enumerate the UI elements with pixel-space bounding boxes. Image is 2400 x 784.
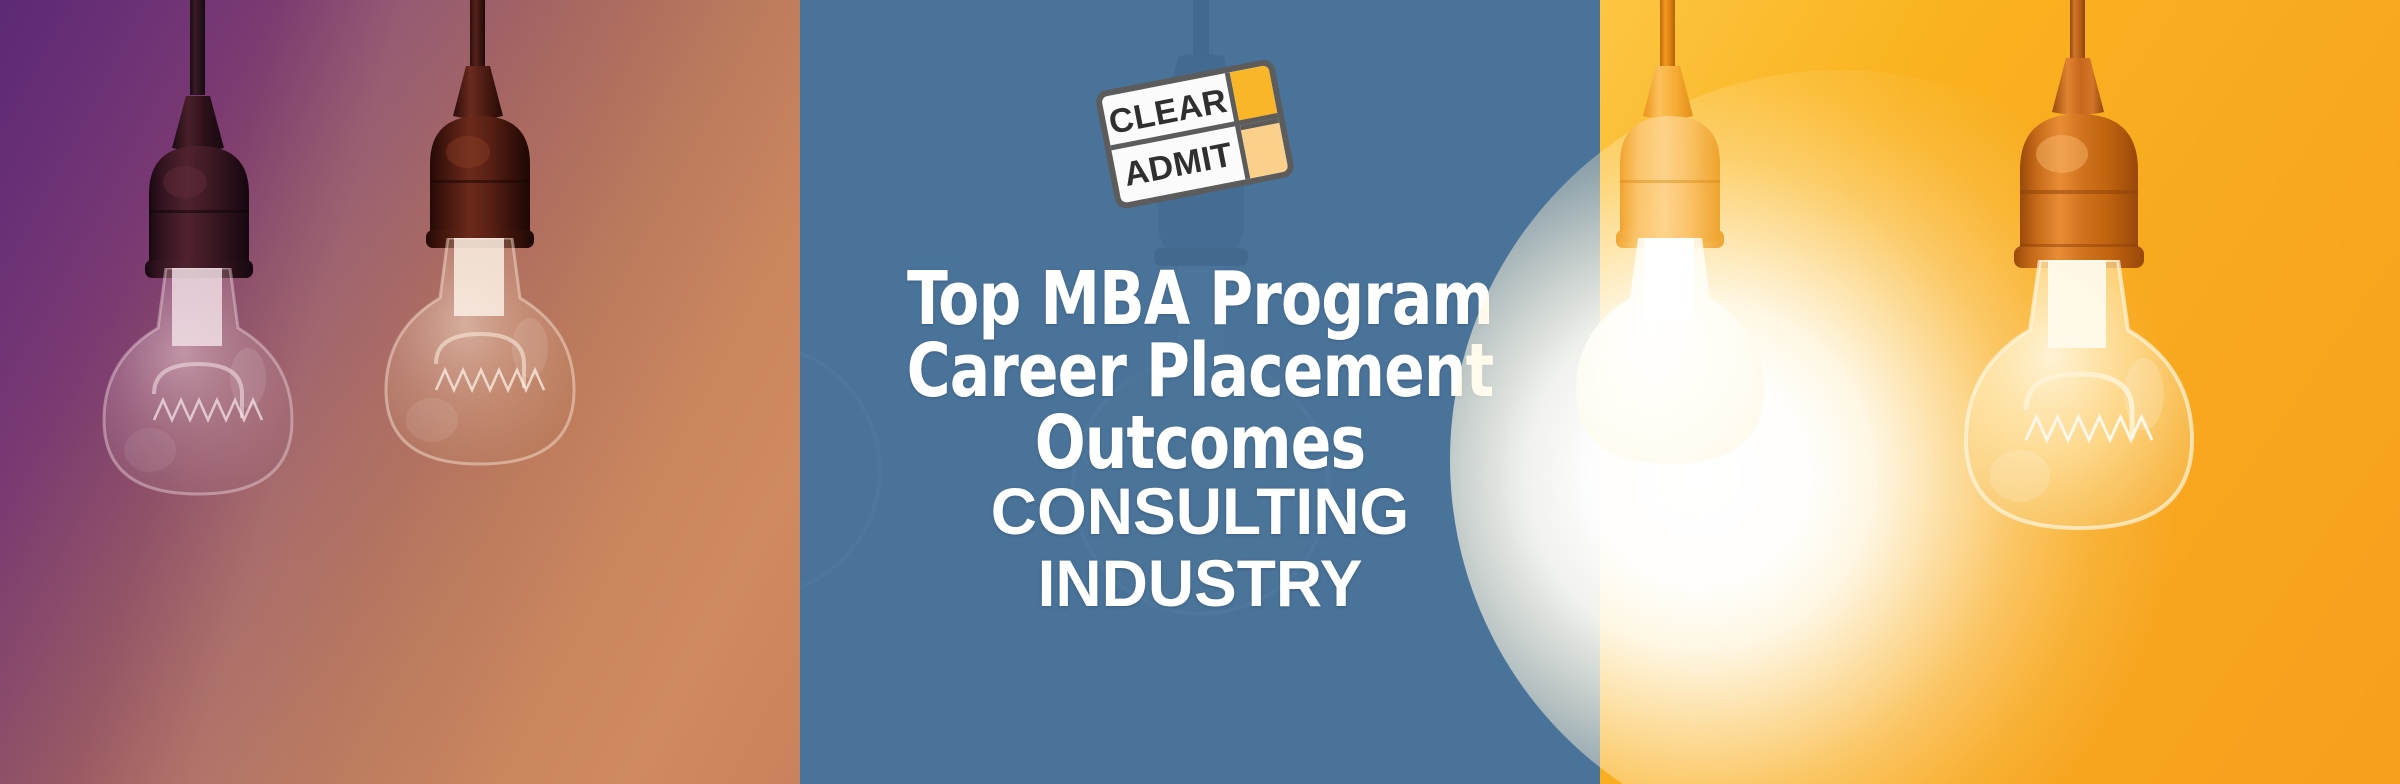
- bulb-4-socket: [2014, 108, 2144, 268]
- bulb-1-socket: [145, 142, 253, 278]
- bulb-1-cord: [190, 0, 205, 95]
- bulb-3-cord: [1660, 0, 1675, 70]
- bulb-3-socket: [1616, 112, 1724, 248]
- bulb-2-socket: [426, 112, 534, 248]
- clear-admit-logo-text-column: CLEAR ADMIT: [1101, 73, 1245, 203]
- bulb-4-cord: [2070, 0, 2085, 62]
- bulb-4-glass: [1948, 260, 2210, 560]
- clear-admit-logo-block-light-orange: [1240, 118, 1289, 178]
- clear-admit-logo-word-admit: ADMIT: [1121, 138, 1236, 192]
- bulb-2-cord: [470, 0, 485, 70]
- banner-root: Top MBA Program Career Placement Outcome…: [0, 0, 2400, 784]
- bulb-1-glass: [88, 268, 308, 518]
- bulb-2-glass: [370, 238, 590, 488]
- bulb-3-glass: [1560, 238, 1790, 498]
